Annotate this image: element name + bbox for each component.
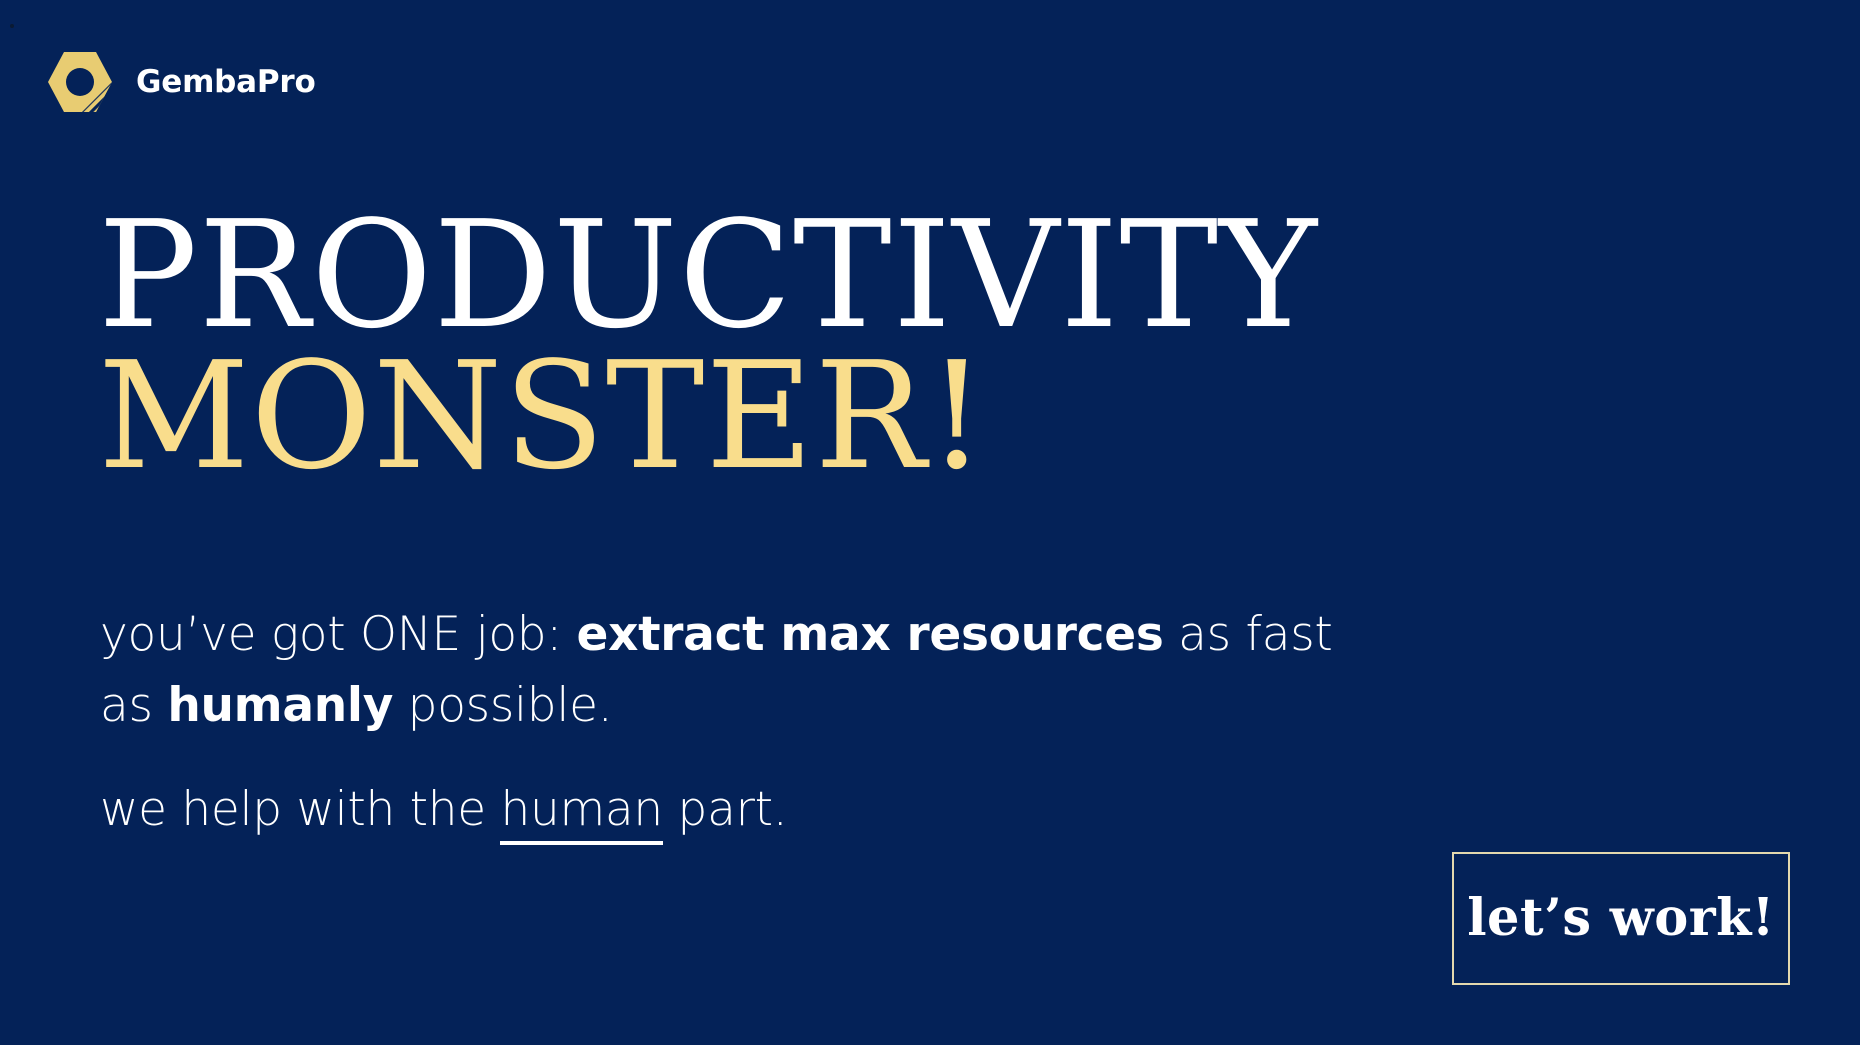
page-title: PRODUCTIVITY MONSTER!: [98, 205, 1498, 486]
lets-work-button[interactable]: let’s work!: [1452, 852, 1790, 985]
body-emphasis-1: extract max resources: [577, 607, 1164, 662]
body-text-part1: you’ve got ONE job:: [100, 607, 577, 662]
headline-line-2: MONSTER!: [98, 346, 1498, 487]
headline-line-1: PRODUCTIVITY: [98, 205, 1498, 346]
brand-name: GembaPro: [136, 67, 316, 98]
speck-artifact: [10, 24, 14, 28]
body-text-part3: possible.: [393, 678, 612, 733]
poster-canvas: GembaPro PRODUCTIVITY MONSTER! you’ve go…: [0, 0, 1860, 1045]
body-emphasis-2: humanly: [167, 678, 393, 733]
lets-work-button-label: let’s work!: [1467, 893, 1775, 944]
tagline-underlined-word: human: [500, 782, 662, 845]
body-copy: you’ve got ONE job: extract max resource…: [100, 600, 1360, 741]
tagline-part1: we help with the: [100, 782, 500, 837]
tagline-part2: part.: [663, 782, 787, 837]
hexagon-nut-icon: [44, 48, 116, 116]
brand-lockup[interactable]: GembaPro: [44, 48, 316, 116]
tagline: we help with the human part.: [100, 775, 1200, 846]
